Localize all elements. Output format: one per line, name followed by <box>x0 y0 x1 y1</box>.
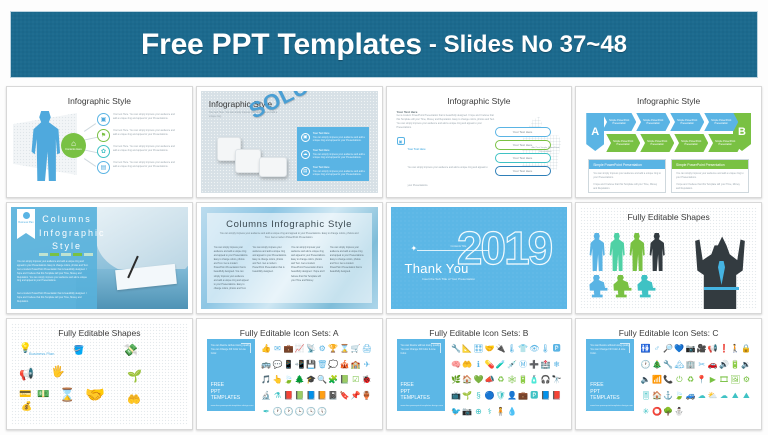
transparency-checker-background <box>11 323 188 425</box>
icon-cell: 🛒 <box>351 344 361 353</box>
slide-10-canvas: Fully Editable Icon Sets: A You can Resi… <box>201 323 378 425</box>
monitor-icon: ▣ <box>101 116 107 123</box>
hand-plant-icon: 🤲 <box>127 393 141 406</box>
slide-5-title: Columns Infographic Style <box>39 213 95 254</box>
card-a-bullet-1: You can simply impress your audience and… <box>589 169 665 180</box>
card-a-bullet-2: I hope and I believe that this Template … <box>589 180 665 191</box>
slide-11-title: Fully Editable Icon Sets: B <box>391 328 568 338</box>
icon-cell: 🎚 <box>641 391 651 400</box>
icon-cell: 🕑 <box>284 407 294 416</box>
node-3[interactable]: ✿ <box>97 145 110 158</box>
icon-cell: 🔒 <box>741 344 751 353</box>
accent-bar <box>61 253 70 256</box>
slide-8-canvas: Fully Editable Shapes <box>580 207 757 309</box>
icon-cell: ℹ <box>477 360 480 369</box>
icon-cell: ☑ <box>352 375 359 384</box>
list-item: ▣ Your Text HereYou can simply impress y… <box>397 137 489 191</box>
ribbon-badge-icon <box>23 212 30 219</box>
icon-cell: 🕐 <box>273 407 283 416</box>
icon-cell: 🐞 <box>362 375 372 384</box>
money-card-icon: 💳 <box>19 389 31 400</box>
bottom-step-4: Simple PowerPoint Presentation <box>708 134 742 152</box>
icon-cell: ⏻ <box>676 375 682 384</box>
slide-3-lead: Your Text Here Get a modern PowerPoint P… <box>397 110 497 130</box>
icon-cell: 🖨 <box>362 344 372 353</box>
slide-7-canvas: ✦ Contents Title 2019 Thank You Insert t… <box>391 207 568 309</box>
icon-cell: 🕓 <box>306 407 316 416</box>
icon-cell: 🔵 <box>485 391 495 400</box>
icon-cell: 🌿 <box>451 375 461 384</box>
slide-6-title: Columns Infographic Style <box>207 219 372 230</box>
slide-6-canvas: Columns Infographic Style You can simply… <box>201 207 378 309</box>
person-silhouette-icon <box>648 233 665 271</box>
gear-icon: ✿ <box>101 148 106 155</box>
top-step-3: Simple PowerPoint Presentation <box>670 113 704 131</box>
accent-bar <box>50 253 59 256</box>
accent-bar <box>84 253 93 256</box>
slide-thumbnail-9[interactable]: Fully Editable Shapes 💡 Business Plan 🪣 … <box>6 318 193 430</box>
ribbon-label: Business Plan <box>18 221 33 224</box>
icon-cell: 🏠 <box>652 391 662 400</box>
home-icon: ⌂ <box>71 140 76 148</box>
icon-cell: 🍃 <box>674 391 684 400</box>
megaphone-icon: 📢 <box>19 367 34 381</box>
free-ppt-templates-card: You can Resize without losing quality. Y… <box>586 339 634 411</box>
icon-cell: 🚗 <box>708 360 718 369</box>
node-2-text: Your text Here. You can simply impress y… <box>113 129 177 137</box>
icon-cell: ⚙ <box>319 344 326 353</box>
person-silhouette-icon <box>628 233 645 271</box>
icon-cell: 📘 <box>306 391 316 400</box>
icon-cell: 👤 <box>507 391 517 400</box>
icon-cell: 🔉 <box>741 360 751 369</box>
node-4[interactable]: ▤ <box>97 161 110 174</box>
icon-cell: 🕔 <box>317 407 327 416</box>
panel-item-3-text: You can simply impress your audience and… <box>313 170 365 177</box>
card-url: www.free-powerpoint-templates-design.com <box>590 405 633 407</box>
icon-cell: ⚓ <box>663 391 673 400</box>
bottom-step-1: Simple PowerPoint Presentation <box>606 134 640 152</box>
icon-cell: 📣 <box>485 375 495 384</box>
panel-item-2-text: You can simply impress your audience and… <box>313 153 365 160</box>
icon-cell: ⭕ <box>652 407 662 416</box>
pill-4[interactable]: Your Text Here <box>495 166 551 176</box>
pill-3[interactable]: Your Text Here <box>495 153 551 163</box>
icon-cell: 📌 <box>351 391 361 400</box>
card-url: www.free-powerpoint-templates-design.com <box>211 405 254 407</box>
icon-cell: § <box>476 391 480 400</box>
thumb-caption: Add Text Simple PowerPoint Presentation <box>531 147 559 154</box>
panel-item-1-title: Your Text Here <box>313 132 330 135</box>
card-b-bullet-2: I hope and I believe that this Template … <box>672 180 748 191</box>
panel-item-3-title: Your Text Here <box>313 166 330 169</box>
icon-cell: 🎞 <box>719 375 729 384</box>
card-a-header: Simple PowerPoint Presentation <box>589 160 665 169</box>
icon-cell: ⚕ <box>487 407 491 416</box>
icon-cell: 🔌 <box>496 344 506 353</box>
icon-cell: 💙 <box>674 344 684 353</box>
slide-5-canvas: Business Plan Columns Infographic Style … <box>11 207 188 309</box>
free-ppt-templates-card: You can Resize without losing quality. Y… <box>207 339 255 411</box>
icon-cell: 📕 <box>552 391 562 400</box>
icon-cell: 🎵 <box>261 375 271 384</box>
banknote-icon: 💵 <box>37 389 49 400</box>
icon-cell: 🔬 <box>261 391 271 400</box>
icon-cell: ⌛ <box>340 344 350 353</box>
icon-cell: 💼 <box>284 344 294 353</box>
icon-cell: 🌡 <box>540 344 550 353</box>
icon-cell: 🐦 <box>451 407 461 416</box>
icon-cell: 🗑 <box>317 360 327 369</box>
chart-icon: ▣ <box>397 137 405 145</box>
icon-cell: 📷 <box>686 344 696 353</box>
card-url: www.free-powerpoint-templates-design.com <box>401 405 444 407</box>
card-brand: FREEPPTTEMPLATES <box>401 382 430 401</box>
slide-3-item-list: ▣ Your Text HereYou can simply impress y… <box>397 137 489 193</box>
icon-grid-c: 🚻♂🔎💙📷🎥📢❗🚶🔒🕐🎄🔧🏔🏢✂🚗🔊🔋🔉🔈📶📞⏻♻📍▶🎞🖼⚙🎚🏠⚓🍃🚙☁⛅☁⛰⛰… <box>640 341 752 419</box>
icon-cell: 🛡 <box>496 391 506 400</box>
slide-5-body: You can simply impress your audience and… <box>17 261 91 284</box>
icon-cell: 📈 <box>295 344 305 353</box>
slide-thumbnail-2[interactable]: Infographic Style Your text Here. You ca… <box>196 86 383 198</box>
title-line-1: Columns <box>39 213 95 227</box>
briefcase-icon: ▤ <box>101 164 107 171</box>
icon-cell: 🚌 <box>261 360 271 369</box>
title-line-3: Style <box>39 240 95 254</box>
slide-10-title: Fully Editable Icon Sets: A <box>201 328 378 338</box>
icon-cell: ❗ <box>719 344 729 353</box>
icon-cell: 🔋 <box>518 375 528 384</box>
card-brand: FREEPPTTEMPLATES <box>211 382 240 401</box>
slide-thumbnail-5[interactable]: Business Plan Columns Infographic Style … <box>6 202 193 314</box>
icon-cell: 🔖 <box>340 391 350 400</box>
slide-4-title: Infographic Style <box>580 96 757 106</box>
connector-line <box>84 158 96 167</box>
flag-icon: ⚑ <box>101 132 106 139</box>
top-step-1: Simple PowerPoint Presentation <box>602 113 636 131</box>
slide-8-title: Fully Editable Shapes <box>580 212 757 222</box>
icon-cell: 🔧 <box>451 344 461 353</box>
solution-info-panel: ▣ Your Text Here You can simply impress … <box>297 127 369 181</box>
icon-cell: 📲 <box>295 360 305 369</box>
icon-cell: 📙 <box>317 391 327 400</box>
accent-bar <box>39 253 48 256</box>
icon-cell: 💬 <box>273 360 283 369</box>
puzzle-piece <box>235 149 261 173</box>
icon-cell: 👆 <box>273 375 283 384</box>
icon-cell: 🌲 <box>295 375 305 384</box>
item-title: Your Text Here <box>408 148 426 151</box>
icon-cell: 🖼 <box>730 375 740 384</box>
panel-item-1-text: You can simply impress your audience and… <box>313 136 365 143</box>
icon-cell: ✈ <box>364 360 371 369</box>
icon-cell: ➕ <box>529 360 539 369</box>
icon-cell: 🧴 <box>529 375 539 384</box>
ppt-template-preview-page: Free PPT Templates - Slides No 37~48 Inf… <box>0 0 768 435</box>
panel-item-2: ☁ Your Text Here You can simply impress … <box>301 149 365 160</box>
seated-person-icon <box>612 275 632 303</box>
panel-item-1: ▣ Your Text Here You can simply impress … <box>301 132 365 143</box>
corner-decoration <box>620 343 630 353</box>
node-2[interactable]: ⚑ <box>97 129 110 142</box>
text-column-3: You can simply impress your audience and… <box>291 246 326 291</box>
icon-cell: 💧 <box>507 407 517 416</box>
slide-thumbnail-grid: Infographic Style ⌂ Contents Here ▣ ⚑ ✿ … <box>6 86 762 430</box>
slide-thumbnail-8[interactable]: Fully Editable Shapes <box>575 202 762 314</box>
icon-cell: 📷 <box>462 407 472 416</box>
icon-cell: 🅿 <box>530 391 538 400</box>
icon-cell: ☁ <box>698 391 706 400</box>
icon-cell: ⊕ <box>475 407 482 416</box>
icon-cell: 🏺 <box>362 391 372 400</box>
slide-thumbnail-12[interactable]: Fully Editable Icon Sets: C You can Resi… <box>575 318 762 430</box>
node-3-text: Your text Here. You can simply impress y… <box>113 145 177 153</box>
slide-6-subtitle: You can simply impress your audience and… <box>219 232 360 240</box>
icon-cell: 🅿 <box>553 344 561 353</box>
icon-cell: ♻ <box>497 375 504 384</box>
thank-you-text: Thank You <box>405 261 469 276</box>
hand-coin-icon: 🖐 <box>51 365 65 378</box>
icon-cell: 💭 <box>328 360 338 369</box>
corner-decoration <box>241 343 251 353</box>
icon-cell: 🎧 <box>540 375 550 384</box>
card-b-header: Simple PowerPoint Presentation <box>672 160 748 169</box>
icon-cell: ⛰ <box>743 391 750 400</box>
icon-cell: 💚 <box>473 375 483 384</box>
puzzle-piece <box>259 157 287 177</box>
slide-12-title: Fully Editable Icon Sets: C <box>580 328 757 338</box>
icon-cell: 📘 <box>540 391 550 400</box>
top-step-4: Simple PowerPoint Presentation <box>704 113 738 131</box>
panel-item-3: ▤ Your Text Here You can simply impress … <box>301 166 365 177</box>
icon-cell: ☁ <box>720 391 728 400</box>
plant-pot-icon: 🌱 <box>127 369 142 383</box>
slide-thumbnail-6[interactable]: Columns Infographic Style You can simply… <box>196 202 383 314</box>
icon-cell: 📱 <box>284 360 294 369</box>
icon-cell: 🎓 <box>306 375 316 384</box>
icon-cell: ⛰ <box>732 391 739 400</box>
icon-cell: 🎥 <box>697 344 707 353</box>
icon-cell: ⚙ <box>743 375 750 384</box>
bottom-step-3: Simple PowerPoint Presentation <box>674 134 708 152</box>
free-ppt-templates-card: You can Resize without losing quality. Y… <box>397 339 445 411</box>
bottom-step-2: Simple PowerPoint Presentation <box>640 134 674 152</box>
watering-can-icon: 🪣 <box>73 345 84 356</box>
icon-cell: ✳ <box>642 407 649 416</box>
icon-cell: 📺 <box>451 391 461 400</box>
node-4-text: Your text Here. You can simply impress y… <box>113 161 177 169</box>
slide-1-title: Infographic Style <box>11 96 188 106</box>
slide-2-canvas: Infographic Style Your text Here. You ca… <box>201 91 378 193</box>
icon-cell: 🏔 <box>674 360 684 369</box>
hub-label: Contents Here <box>65 148 82 151</box>
icon-cell: 🤲 <box>462 360 472 369</box>
icon-cell: 💊 <box>485 360 495 369</box>
icon-cell: 🎄 <box>652 360 662 369</box>
banner-subtitle: - Slides No 37~48 <box>429 31 627 59</box>
year-outline-text: 2019 <box>457 225 551 271</box>
icon-cell: ▶ <box>710 375 716 384</box>
icon-cell: 📍 <box>697 375 707 384</box>
icon-cell: ♻ <box>687 375 694 384</box>
card-brand: FREEPPTTEMPLATES <box>590 382 619 401</box>
monitor-icon: ▣ <box>301 133 310 142</box>
sparkle-icon: ✦ <box>411 245 418 253</box>
icon-cell: 📡 <box>306 344 316 353</box>
hub-node: ⌂ Contents Here <box>61 133 86 158</box>
icon-cell: 🧍 <box>496 407 506 416</box>
icon-cell: 🕐 <box>641 360 651 369</box>
slide-5-body-2: Get a modern PowerPoint Presentation tha… <box>17 293 91 305</box>
icon-cell: 🔧 <box>663 360 673 369</box>
icon-cell: 📶 <box>652 375 662 384</box>
icon-cell: 💼 <box>518 391 528 400</box>
seated-person-icon <box>588 275 608 303</box>
slide-3-canvas: Infographic Style Your Text Here Get a m… <box>391 91 568 193</box>
icon-cell: 🧪 <box>496 360 506 369</box>
accent-bar-group <box>39 253 93 256</box>
slide-thumbnail-3[interactable]: Infographic Style Your Text Here Get a m… <box>386 86 573 198</box>
icon-cell: 🎪 <box>340 360 350 369</box>
icon-cell: 📐 <box>462 344 472 353</box>
icon-cell: ⛄ <box>674 407 684 416</box>
slide-1-canvas: Infographic Style ⌂ Contents Here ▣ ⚑ ✿ … <box>11 91 188 193</box>
node-1[interactable]: ▣ <box>97 113 110 126</box>
icon-cell: 🌳 <box>663 407 673 416</box>
icon-cell: 🤝 <box>485 344 495 353</box>
icon-cell: 🔍 <box>317 375 327 384</box>
slide-thumbnail-11[interactable]: Fully Editable Icon Sets: B You can Resi… <box>386 318 573 430</box>
icon-cell: ✉ <box>274 344 281 353</box>
icon-cell: 🔭 <box>552 375 562 384</box>
icon-cell: 🏥 <box>540 360 550 369</box>
icon-cell: 📞 <box>663 375 673 384</box>
slide-thumbnail-4[interactable]: Infographic Style A B Simple PowerPoint … <box>575 86 762 198</box>
icon-cell: 🏢 <box>686 360 696 369</box>
slide-9-title: Fully Editable Shapes <box>11 328 188 338</box>
bottom-arrow-band: Simple PowerPoint Presentation Simple Po… <box>606 134 742 152</box>
icon-cell: 📕 <box>284 391 294 400</box>
item-text: You can simply impress your audience and… <box>408 166 488 187</box>
icon-cell: 🔈 <box>641 375 651 384</box>
icon-cell: 👕 <box>518 344 528 353</box>
icon-cell: 🧠 <box>451 360 461 369</box>
business-plan-label: Business Plan <box>29 351 54 356</box>
icon-cell: 📗 <box>295 391 305 400</box>
panel-item-2-title: Your Text Here <box>313 149 330 152</box>
handshake-icon: 🤝 <box>85 385 105 405</box>
icon-cell: 💾 <box>306 360 316 369</box>
icon-cell: 🎛 <box>473 344 483 353</box>
header-banner: Free PPT Templates - Slides No 37~48 <box>10 11 758 78</box>
text-column-1: You can simply impress your audience and… <box>214 246 249 291</box>
person-silhouette-icon <box>608 233 625 271</box>
banner-main-title: Free PPT Templates <box>141 28 422 62</box>
pill-1[interactable]: Your Text Here <box>495 127 551 137</box>
icon-cell: 🚶 <box>730 344 740 353</box>
card-b-bullet-1: You can simply impress your audience and… <box>672 169 748 180</box>
slide-thumbnail-10[interactable]: Fully Editable Icon Sets: A You can Resi… <box>196 318 383 430</box>
icon-cell: 🚻 <box>641 344 651 353</box>
money-bag-icon: 💰 <box>21 401 32 412</box>
slide-12-canvas: Fully Editable Icon Sets: C You can Resi… <box>580 323 757 425</box>
corner-decoration <box>431 343 441 353</box>
money-tree-icon: 💸 <box>123 343 138 357</box>
person-silhouette-icon <box>588 233 605 271</box>
icon-cell: 🔋 <box>730 360 740 369</box>
icon-cell: ❄ <box>553 360 560 369</box>
icon-cell: 🚙 <box>686 391 696 400</box>
summary-card-b: Simple PowerPoint Presentation You can s… <box>671 159 749 193</box>
slide-3-title: Infographic Style <box>391 96 568 106</box>
icon-cell: 📗 <box>340 375 350 384</box>
top-arrow-band: Simple PowerPoint Presentation Simple Po… <box>602 113 738 131</box>
icon-cell: 🏆 <box>328 344 338 353</box>
icon-cell: ⛅ <box>708 391 718 400</box>
hourglass-icon: ⌛ <box>59 387 75 403</box>
node-1-text: Your text Here. You can simply impress y… <box>113 113 177 121</box>
summary-card-a: Simple PowerPoint Presentation You can s… <box>588 159 666 193</box>
top-step-2: Simple PowerPoint Presentation <box>636 113 670 131</box>
icon-cell: 📢 <box>708 344 718 353</box>
slide-9-canvas: Fully Editable Shapes 💡 Business Plan 🪣 … <box>11 323 188 425</box>
people-shape-group <box>584 225 753 305</box>
icon-cell: 🏫 <box>351 360 361 369</box>
slide-11-canvas: Fully Editable Icon Sets: B You can Resi… <box>391 323 568 425</box>
lead-text: Get a modern PowerPoint Presentation tha… <box>397 114 497 130</box>
connector-line <box>84 123 96 132</box>
icon-cell: 🔎 <box>663 344 673 353</box>
text-panel: Columns Infographic Style You can simply… <box>207 213 372 303</box>
icon-cell: 📓 <box>328 391 338 400</box>
icon-cell: 👍 <box>261 344 271 353</box>
icon-cell: 🍃 <box>284 375 294 384</box>
icon-cell: ✒ <box>263 407 270 416</box>
icon-cell: ⚗ <box>274 391 281 400</box>
cloud-icon: ☁ <box>301 150 310 159</box>
icon-cell: ✂ <box>698 360 705 369</box>
icon-cell: Ⓜ <box>519 360 527 369</box>
title-line-2: Infographic <box>39 227 95 241</box>
icon-cell: 🌱 <box>462 391 472 400</box>
icon-cell: ♂ <box>654 344 660 353</box>
slide-7-subtitle: Insert the Sub Title of Your Presentatio… <box>419 277 479 282</box>
icon-cell: 🔊 <box>719 360 729 369</box>
icon-grid-a: 👍✉💼📈📡⚙🏆⌛🛒🖨🚌💬📱📲💾🗑💭🎪🏫✈🎵👆🍃🌲🎓🔍🧩📗☑🐞🔬⚗📕📗📘📙📓🔖📌🏺… <box>261 341 373 419</box>
icon-cell: 💉 <box>507 360 517 369</box>
icon-cell: 🏠 <box>462 375 472 384</box>
accent-bar <box>73 253 82 256</box>
text-column-group: You can simply impress your audience and… <box>207 240 372 291</box>
icon-cell: 🕒 <box>295 407 305 416</box>
slide-thumbnail-7[interactable]: ✦ Contents Title 2019 Thank You Insert t… <box>386 202 573 314</box>
icon-cell: 👁 <box>529 344 539 353</box>
text-column-2: You can simply impress your audience and… <box>252 246 287 291</box>
icon-cell: 🌡 <box>507 344 517 353</box>
slide-4-canvas: Infographic Style A B Simple PowerPoint … <box>580 91 757 193</box>
icon-cell: 🕸 <box>507 375 517 384</box>
briefcase-icon: ▤ <box>301 167 310 176</box>
belt-shape <box>704 287 739 290</box>
seated-person-icon <box>636 275 656 303</box>
text-column-4: You can simply impress your audience and… <box>330 246 365 291</box>
icon-grid-b: 🔧📐🎛🤝🔌🌡👕👁🌡🅿🧠🤲ℹ💊🧪💉Ⓜ➕🏥❄🌿🏠💚📣♻🕸🔋🧴🎧🔭📺🌱§🔵🛡👤💼🅿📘📕… <box>451 341 563 419</box>
slide-thumbnail-1[interactable]: Infographic Style ⌂ Contents Here ▣ ⚑ ✿ … <box>6 86 193 198</box>
icon-cell: 🧩 <box>328 375 338 384</box>
